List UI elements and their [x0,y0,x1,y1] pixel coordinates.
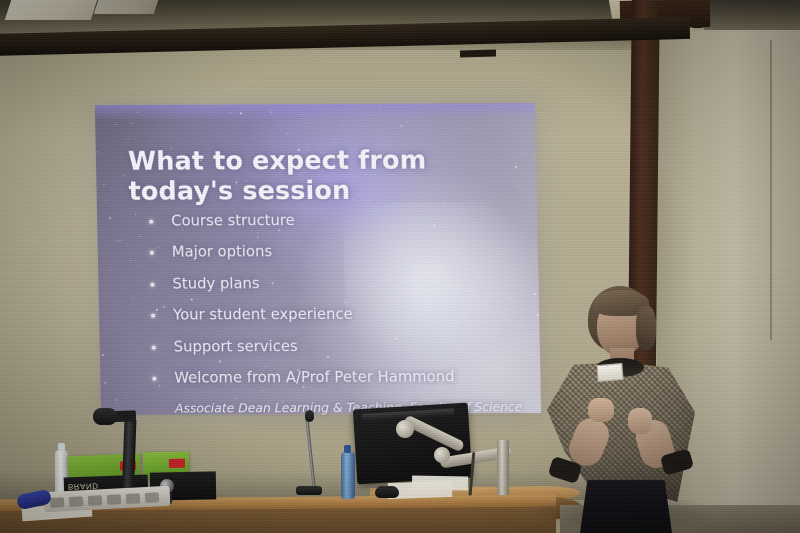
presenter [540,284,710,533]
power-socket [107,494,122,505]
power-socket [69,496,84,507]
monitor-arm-joint-upper [396,420,414,438]
wall-seam [770,40,772,340]
slide-background: What to expect from today's session Cour… [95,103,541,415]
papers-right-2 [412,476,468,491]
slide-bullet: Support services [146,339,516,355]
power-socket [145,492,160,503]
blue-water-bottle [341,452,355,499]
slide-title: What to expect from today's session [128,145,519,207]
power-socket [88,495,103,506]
presenter-right-hand [628,408,652,434]
slide-bullet: Course structure [143,213,513,229]
power-socket [126,493,141,504]
presenter-name-badge [596,363,623,382]
slide-bullet-list: Course structureMajor optionsStudy plans… [143,213,517,403]
green-box-secondary-tag [169,459,185,468]
projected-slide: What to expect from today's session Cour… [95,103,541,415]
beam-fixture [460,50,496,58]
document-camera-head-icon [93,408,117,425]
monitor-arm-joint-lower [434,447,450,463]
presenter-skirt [580,480,672,533]
ceiling-light-secondary-icon [94,0,159,14]
presenter-left-hand [588,398,614,422]
slide-bullet: Major options [144,245,514,261]
presenter-hair-side [636,306,656,350]
slide-bullet: Welcome from A/Prof Peter Hammond [146,370,516,386]
computer-mouse [375,486,399,498]
lecture-theatre-photo: What to expect from today's session Cour… [0,0,800,533]
slide-bullet: Study plans [144,276,514,292]
ceiling-light-icon [5,0,97,20]
microphone-head-icon [305,410,314,422]
slide-bullet: Your student experience [145,307,515,323]
power-socket [50,497,65,508]
microphone-base [296,486,322,495]
